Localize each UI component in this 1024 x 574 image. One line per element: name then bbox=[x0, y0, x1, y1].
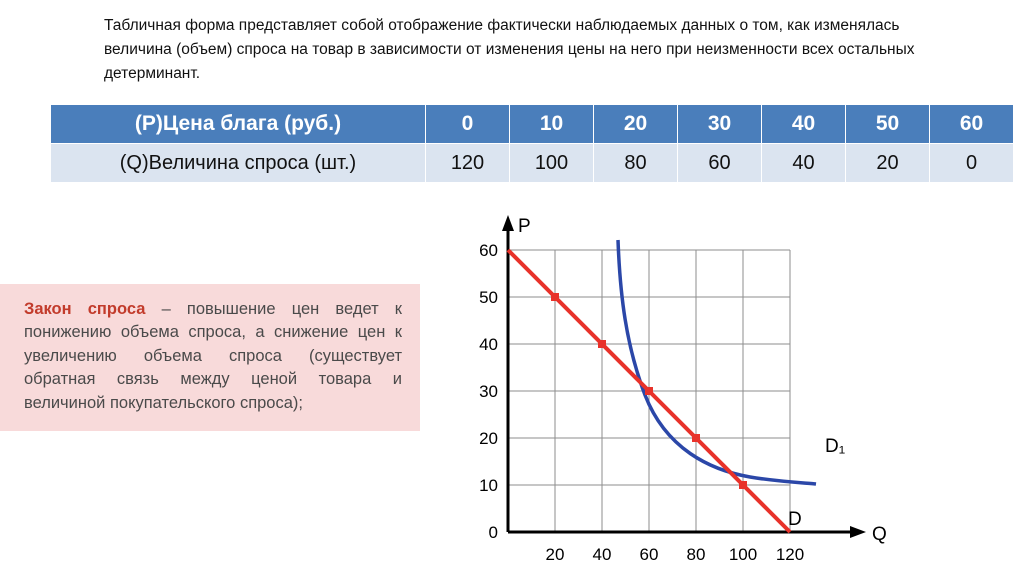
svg-text:120: 120 bbox=[776, 545, 804, 564]
annotation-d1-label: D₁ bbox=[825, 436, 845, 457]
chart-x-axis-label: Q bbox=[872, 524, 887, 545]
intro-paragraph: Табличная форма представляет собой отобр… bbox=[104, 14, 934, 86]
svg-text:50: 50 bbox=[479, 288, 498, 307]
table-row: (Р)Цена блага (руб.) 0 10 20 30 40 50 60 bbox=[51, 105, 1014, 144]
law-of-demand-title: Закон спроса bbox=[24, 300, 145, 318]
table-cell-quantity-4: 40 bbox=[762, 144, 846, 183]
svg-text:20: 20 bbox=[479, 429, 498, 448]
chart-y-axis bbox=[502, 215, 514, 532]
series-d1-curve bbox=[618, 240, 816, 484]
table-cell-price-0: 0 bbox=[426, 105, 510, 144]
table-header-quantity-label: (Q)Величина спроса (шт.) bbox=[51, 144, 426, 183]
law-of-demand-box: Закон спроса – повышение цен ведет к пон… bbox=[0, 284, 420, 431]
demand-table: (Р)Цена блага (руб.) 0 10 20 30 40 50 60… bbox=[50, 104, 1014, 183]
svg-text:40: 40 bbox=[593, 545, 612, 564]
demand-table-container: (Р)Цена блага (руб.) 0 10 20 30 40 50 60… bbox=[50, 104, 975, 183]
table-cell-quantity-6: 0 bbox=[930, 144, 1014, 183]
table-cell-quantity-0: 120 bbox=[426, 144, 510, 183]
table-cell-quantity-5: 20 bbox=[846, 144, 930, 183]
table-cell-price-5: 50 bbox=[846, 105, 930, 144]
svg-text:20: 20 bbox=[546, 545, 565, 564]
law-of-demand-text: Закон спроса – повышение цен ведет к пон… bbox=[24, 298, 402, 415]
svg-text:30: 30 bbox=[479, 382, 498, 401]
table-cell-price-2: 20 bbox=[594, 105, 678, 144]
table-cell-price-4: 40 bbox=[762, 105, 846, 144]
demand-curve-chart: P Q 60 50 40 30 20 10 0 20 40 60 80 100 … bbox=[430, 205, 1024, 574]
table-cell-quantity-3: 60 bbox=[678, 144, 762, 183]
svg-text:60: 60 bbox=[479, 241, 498, 260]
table-cell-quantity-2: 80 bbox=[594, 144, 678, 183]
chart-x-axis bbox=[508, 526, 866, 538]
table-cell-quantity-1: 100 bbox=[510, 144, 594, 183]
svg-text:80: 80 bbox=[687, 545, 706, 564]
table-cell-price-3: 30 bbox=[678, 105, 762, 144]
table-row: (Q)Величина спроса (шт.) 120 100 80 60 4… bbox=[51, 144, 1014, 183]
chart-y-tick-labels: 60 50 40 30 20 10 0 bbox=[479, 241, 498, 542]
chart-x-tick-labels: 20 40 60 80 100 120 bbox=[546, 545, 805, 564]
svg-text:100: 100 bbox=[729, 545, 757, 564]
table-cell-price-6: 60 bbox=[930, 105, 1014, 144]
svg-text:40: 40 bbox=[479, 335, 498, 354]
annotation-d-label: D bbox=[788, 509, 802, 530]
svg-text:0: 0 bbox=[489, 523, 498, 542]
table-cell-price-1: 10 bbox=[510, 105, 594, 144]
svg-text:60: 60 bbox=[640, 545, 659, 564]
chart-y-axis-label: P bbox=[518, 216, 531, 237]
svg-text:10: 10 bbox=[479, 476, 498, 495]
table-header-price-label: (Р)Цена блага (руб.) bbox=[51, 105, 426, 144]
